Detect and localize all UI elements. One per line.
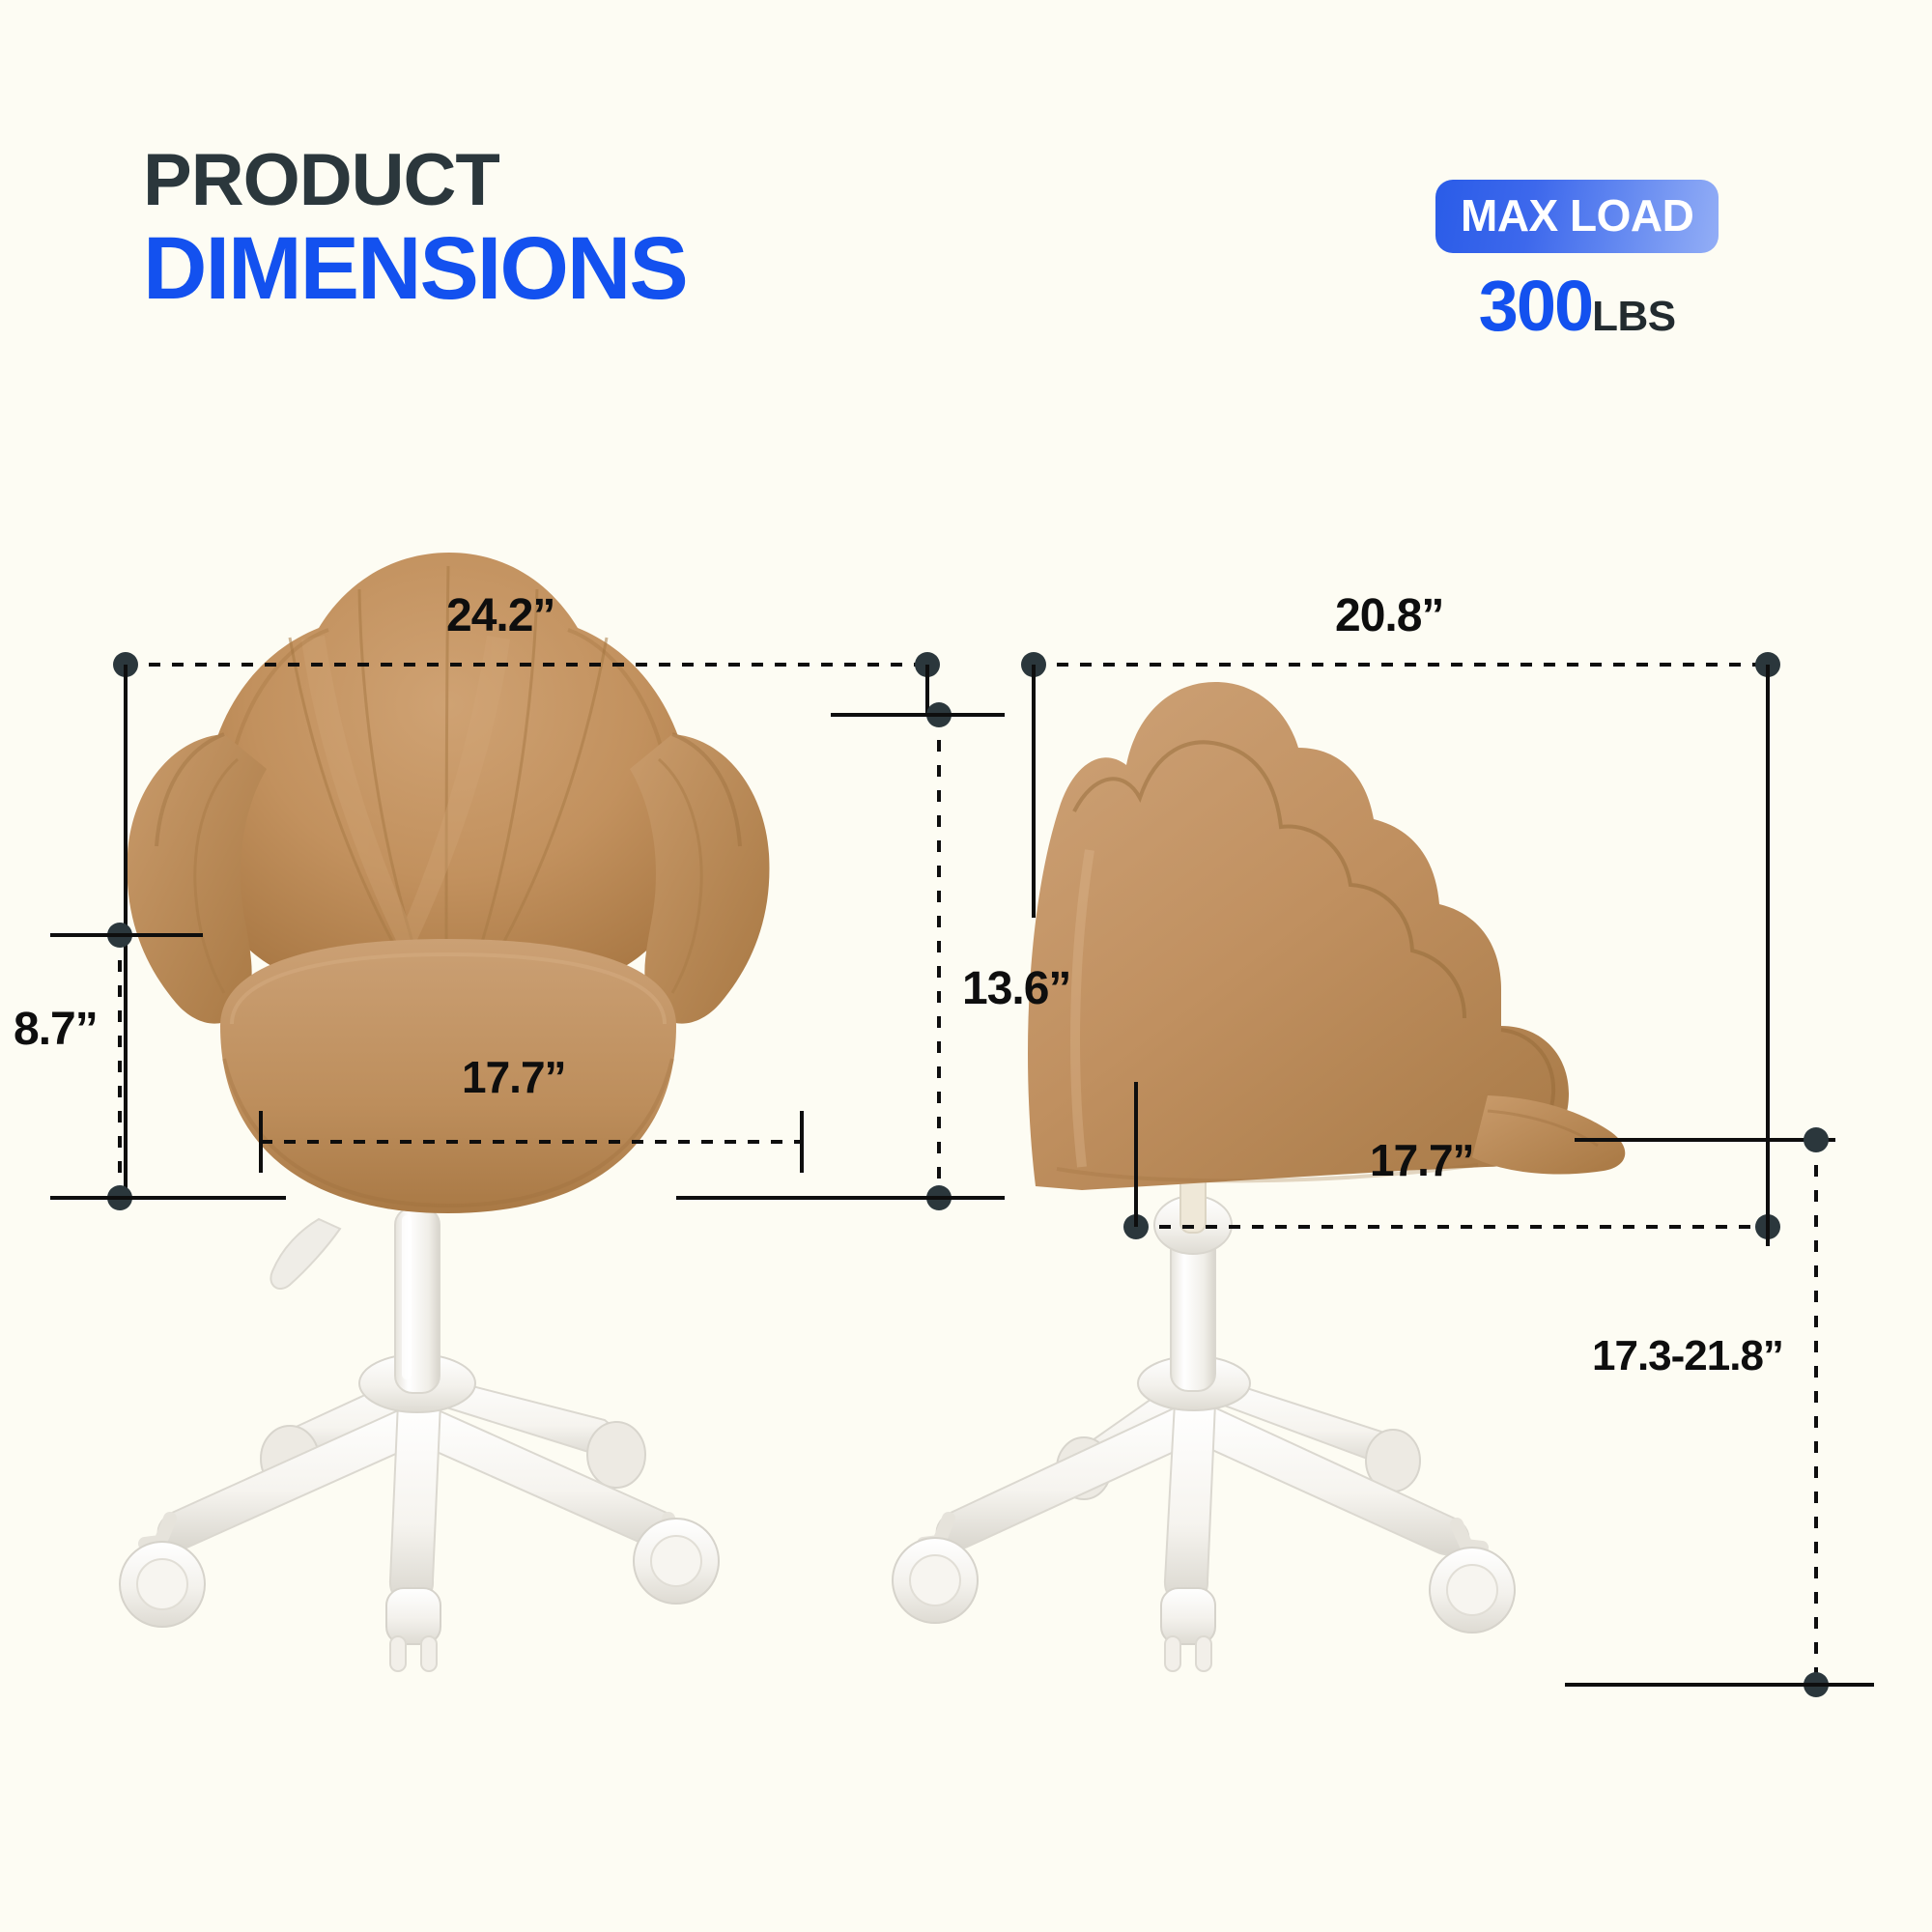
dimension-label-seat-height: 17.3-21.8” bbox=[1592, 1335, 1783, 1378]
dimension-label-seat-width: 17.7” bbox=[462, 1055, 566, 1099]
caster-side-center bbox=[1161, 1588, 1215, 1671]
chair-base-side bbox=[893, 1159, 1515, 1671]
dimension-label-seat-depth: 17.7” bbox=[1370, 1138, 1474, 1182]
chair-seat-front bbox=[216, 933, 682, 1219]
chair-side-view bbox=[893, 676, 1625, 1671]
dimline-seat-height bbox=[1565, 1127, 1874, 1697]
chair-base-front bbox=[120, 1207, 719, 1671]
dimension-label-arm-height: 8.7” bbox=[14, 1007, 98, 1053]
caster-front-right bbox=[634, 1519, 719, 1604]
dimension-label-back-height: 13.6” bbox=[962, 966, 1070, 1012]
height-lever bbox=[270, 1219, 340, 1289]
caster-front-center bbox=[386, 1588, 440, 1671]
chair-arm-side bbox=[1472, 1095, 1625, 1175]
infographic-canvas: PRODUCT DIMENSIONS MAX LOAD 300LBS bbox=[0, 0, 1932, 1932]
chair-front-view bbox=[120, 547, 769, 1671]
dimension-label-overall-depth: 20.8” bbox=[1335, 593, 1443, 639]
dimension-label-overall-width: 24.2” bbox=[446, 593, 554, 639]
